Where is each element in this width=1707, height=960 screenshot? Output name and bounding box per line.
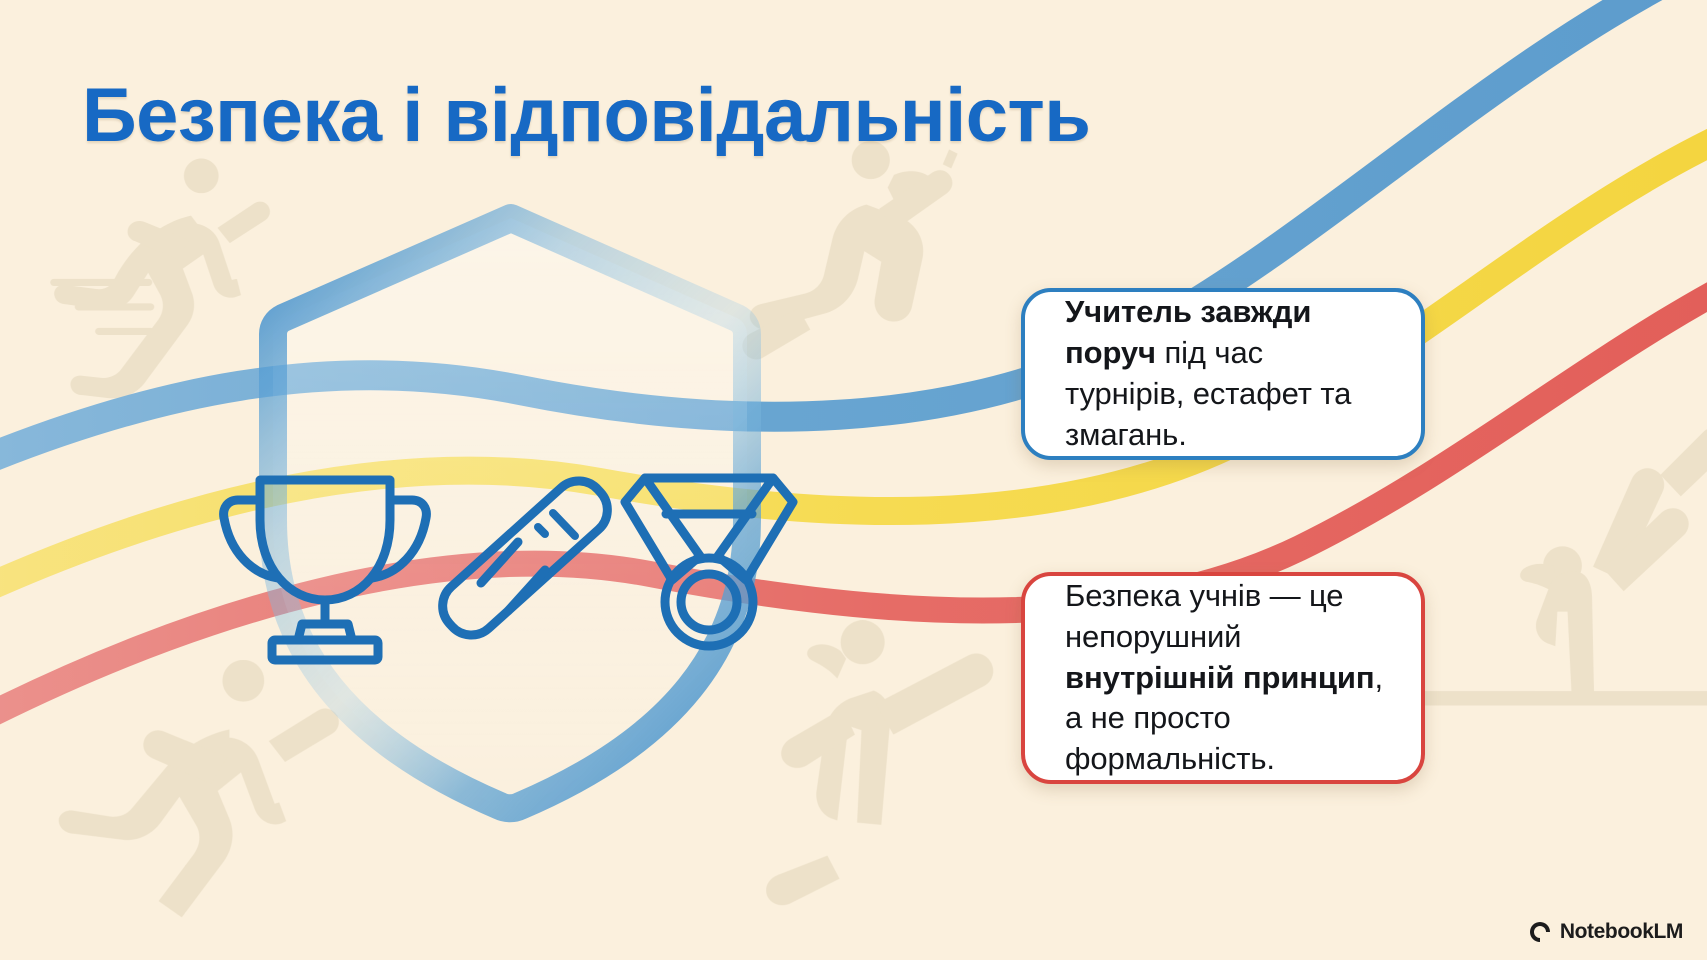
card-teacher-present-text: Учитель завжди поруч під час турнірів, е… bbox=[1025, 266, 1421, 482]
card-safety-principle: Безпека учнів — це непорушний внутрішній… bbox=[1021, 572, 1425, 784]
page-title: Безпека і відповідальність bbox=[82, 72, 1090, 159]
slide-canvas: Безпека і відповідальність Учитель завжд… bbox=[0, 0, 1707, 960]
card-teacher-present: Учитель завжди поруч під час турнірів, е… bbox=[1021, 288, 1425, 460]
card-safety-principle-text: Безпека учнів — це непорушний внутрішній… bbox=[1025, 550, 1421, 807]
notebooklm-brand: NotebookLM bbox=[1527, 920, 1683, 944]
card-safety-principle-bold: внутрішній принцип bbox=[1065, 660, 1374, 695]
card-safety-principle-lead: Безпека учнів — це непорушний bbox=[1065, 578, 1343, 654]
notebooklm-spiral-icon bbox=[1527, 921, 1553, 943]
notebooklm-brand-label: NotebookLM bbox=[1560, 920, 1683, 944]
